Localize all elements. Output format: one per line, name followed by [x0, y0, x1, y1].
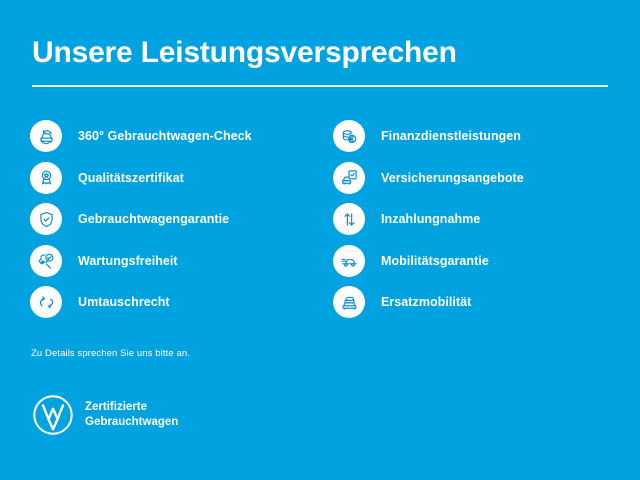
slide-canvas: Unsere Leistungsversprechen 360° Gebrauc… — [0, 0, 640, 480]
promise-label: Finanzdienstleistungen — [381, 129, 521, 143]
wrench-check-icon — [30, 245, 62, 277]
promise-label: Inzahlungnahme — [381, 212, 480, 226]
page-title: Unsere Leistungsversprechen — [32, 36, 457, 69]
two-cars-icon — [333, 286, 365, 318]
shield-check-icon — [30, 203, 62, 235]
promise-item: Inzahlungnahme — [333, 203, 524, 235]
brand-lockup: Zertifizierte Gebrauchtwagen — [31, 393, 178, 437]
promise-item: Mobilitätsgarantie — [333, 245, 524, 277]
car-document-check-icon — [333, 162, 365, 194]
title-divider — [32, 85, 608, 87]
exchange-arrows-icon — [30, 286, 62, 318]
promise-label: Umtauschrecht — [78, 295, 170, 309]
promise-label: 360° Gebrauchtwagen-Check — [78, 129, 252, 143]
award-rosette-icon — [30, 162, 62, 194]
promise-label: Qualitätszertifikat — [78, 171, 184, 185]
promise-item: Qualitätszertifikat — [30, 162, 252, 194]
promise-label: Mobilitätsgarantie — [381, 254, 489, 268]
car-check-icon — [30, 120, 62, 152]
promise-item: Umtauschrecht — [30, 286, 252, 318]
promises-right-column: Finanzdienstleistungen Versicherungsange… — [333, 120, 524, 328]
footer-note: Zu Details sprechen Sie uns bitte an. — [31, 348, 190, 359]
coins-money-icon — [333, 120, 365, 152]
brand-lockup-text: Zertifizierte Gebrauchtwagen — [85, 400, 178, 430]
tow-truck-icon — [333, 245, 365, 277]
promise-item: Ersatzmobilität — [333, 286, 524, 318]
promise-label: Ersatzmobilität — [381, 295, 471, 309]
promise-item: Gebrauchtwagengarantie — [30, 203, 252, 235]
promise-item: Versicherungsangebote — [333, 162, 524, 194]
promise-item: Wartungsfreiheit — [30, 245, 252, 277]
volkswagen-roundel-icon — [31, 393, 75, 437]
promise-label: Versicherungsangebote — [381, 171, 524, 185]
up-down-arrows-icon — [333, 203, 365, 235]
promises-left-column: 360° Gebrauchtwagen-Check Qualitätszerti… — [30, 120, 252, 328]
promise-item: 360° Gebrauchtwagen-Check — [30, 120, 252, 152]
promise-item: Finanzdienstleistungen — [333, 120, 524, 152]
promise-label: Gebrauchtwagengarantie — [78, 212, 229, 226]
promise-label: Wartungsfreiheit — [78, 254, 178, 268]
brand-line-2: Gebrauchtwagen — [85, 416, 178, 428]
brand-line-1: Zertifizierte — [85, 401, 147, 413]
